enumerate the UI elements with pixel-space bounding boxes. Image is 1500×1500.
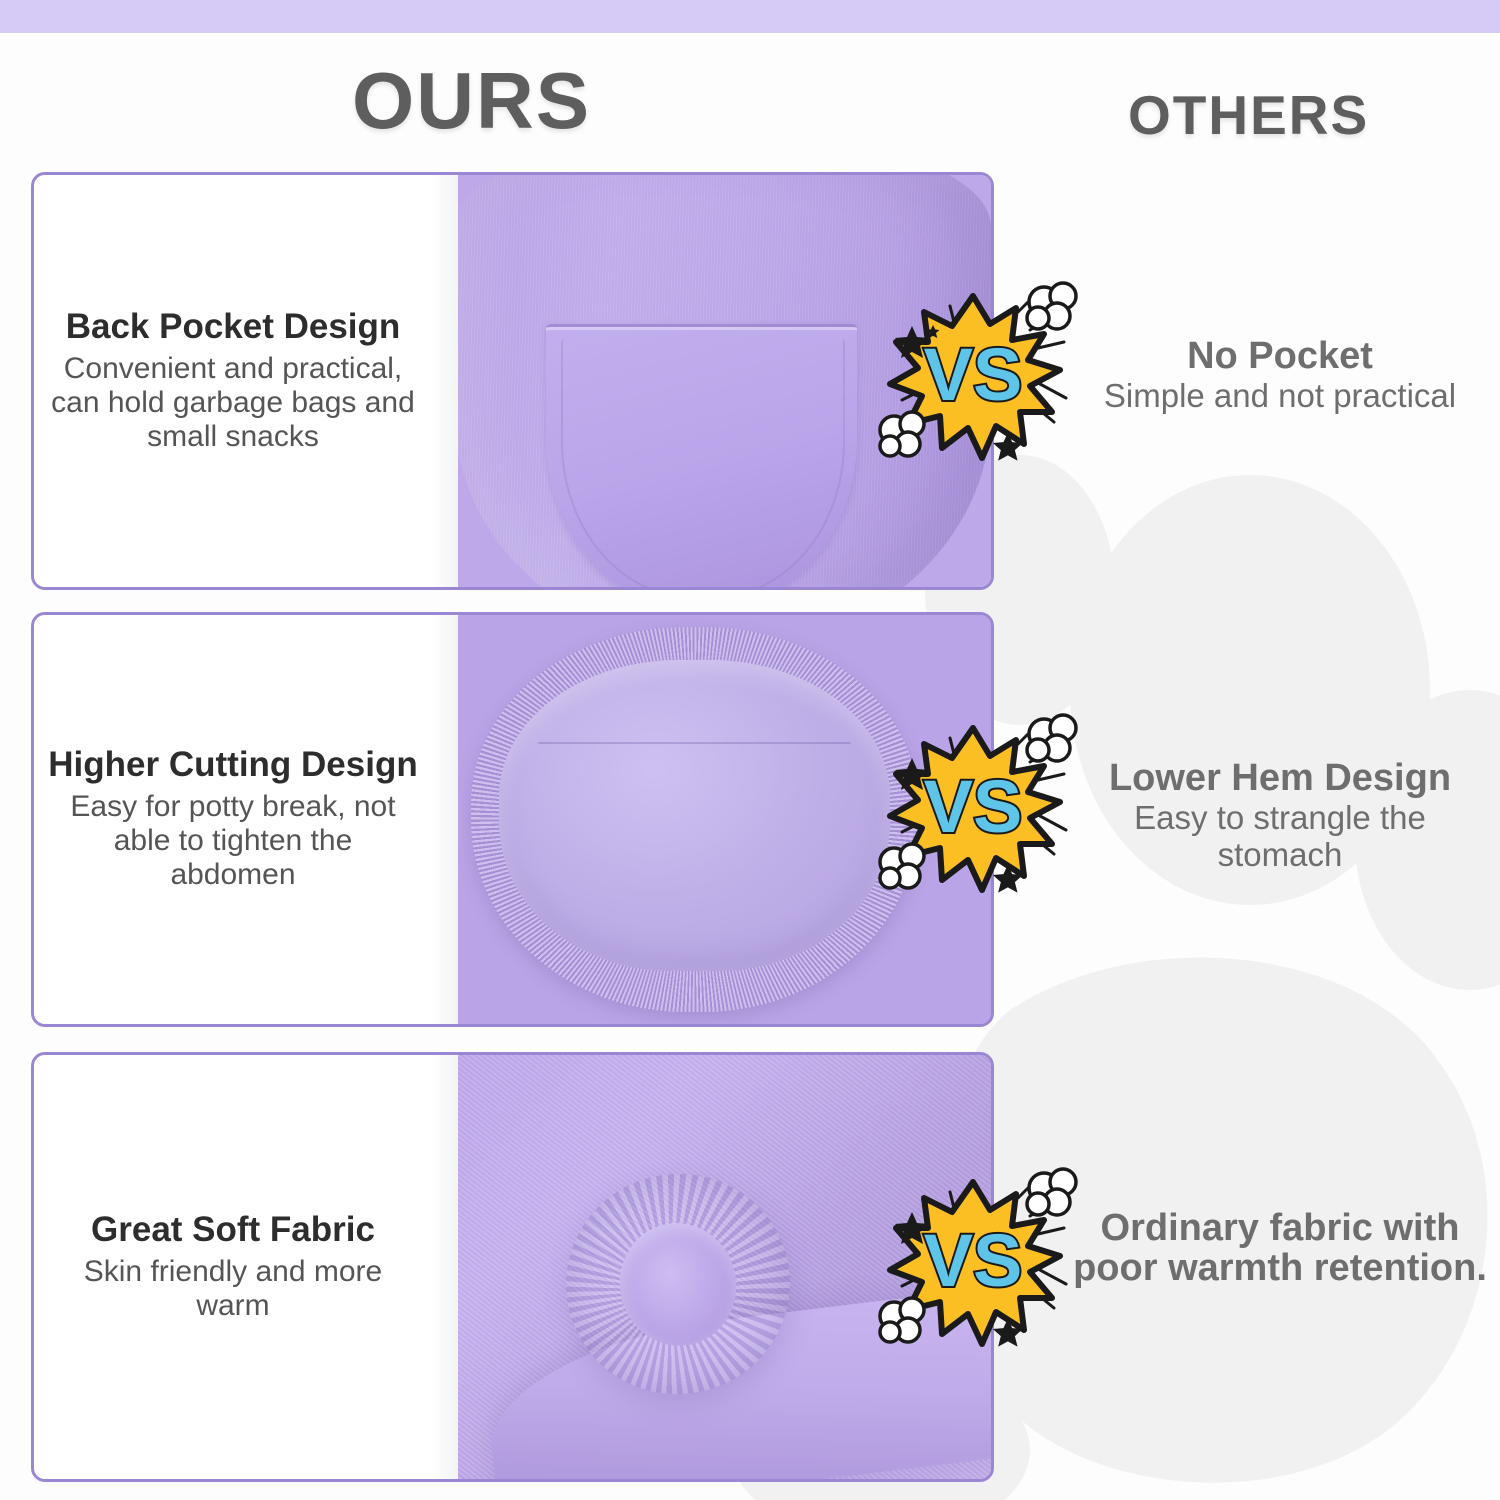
comparison-card-1: Back Pocket Design Convenient and practi… — [31, 172, 994, 590]
vs-badge-label-3: VS — [924, 1219, 1023, 1302]
back-pocket-shape — [546, 324, 857, 587]
ours-feature-desc-1: Convenient and practical, can hold garba… — [48, 352, 418, 455]
others-text-block-3: Ordinary fabric with poor warmth retenti… — [1070, 1208, 1490, 1291]
ours-feature-desc-3: Skin friendly and more warm — [48, 1255, 418, 1323]
ours-text-panel-3: Great Soft Fabric Skin friendly and more… — [34, 1055, 432, 1479]
others-feature-title-1: No Pocket — [1070, 336, 1490, 376]
vs-badge-3: VS — [868, 1158, 1078, 1368]
hem-inner-opening — [499, 660, 890, 971]
vs-badge-label-1: VS — [924, 333, 1023, 416]
ours-text-panel-2: Higher Cutting Design Easy for potty bre… — [34, 615, 432, 1024]
page-title-others: OTHERS — [1128, 83, 1369, 147]
vs-badge-2: VS — [868, 704, 1078, 914]
others-feature-desc-1: Simple and not practical — [1070, 378, 1490, 414]
vs-badge-label-2: VS — [924, 765, 1023, 848]
ours-feature-title-2: Higher Cutting Design — [48, 746, 417, 784]
ours-feature-desc-2: Easy for potty break, not able to tighte… — [48, 790, 418, 893]
comparison-card-2: Higher Cutting Design Easy for potty bre… — [31, 612, 994, 1027]
ours-feature-title-1: Back Pocket Design — [66, 308, 401, 346]
hem-seam-line — [538, 742, 851, 744]
others-text-block-2: Lower Hem Design Easy to strangle the st… — [1070, 758, 1490, 873]
others-feature-title-3: Ordinary fabric with poor warmth retenti… — [1070, 1208, 1490, 1289]
comparison-infographic: OURS OTHERS Back Pocket Design Convenien… — [0, 0, 1500, 1500]
others-text-block-1: No Pocket Simple and not practical — [1070, 336, 1490, 415]
vs-badge-1: VS — [868, 272, 1078, 482]
page-title-ours: OURS — [352, 55, 591, 147]
others-feature-desc-2: Easy to strangle the stomach — [1070, 800, 1490, 873]
comparison-card-3: Great Soft Fabric Skin friendly and more… — [31, 1052, 994, 1482]
top-accent-band — [0, 0, 1500, 33]
ours-feature-title-3: Great Soft Fabric — [91, 1211, 375, 1249]
ours-text-panel-1: Back Pocket Design Convenient and practi… — [34, 175, 432, 587]
others-feature-title-2: Lower Hem Design — [1070, 758, 1490, 798]
